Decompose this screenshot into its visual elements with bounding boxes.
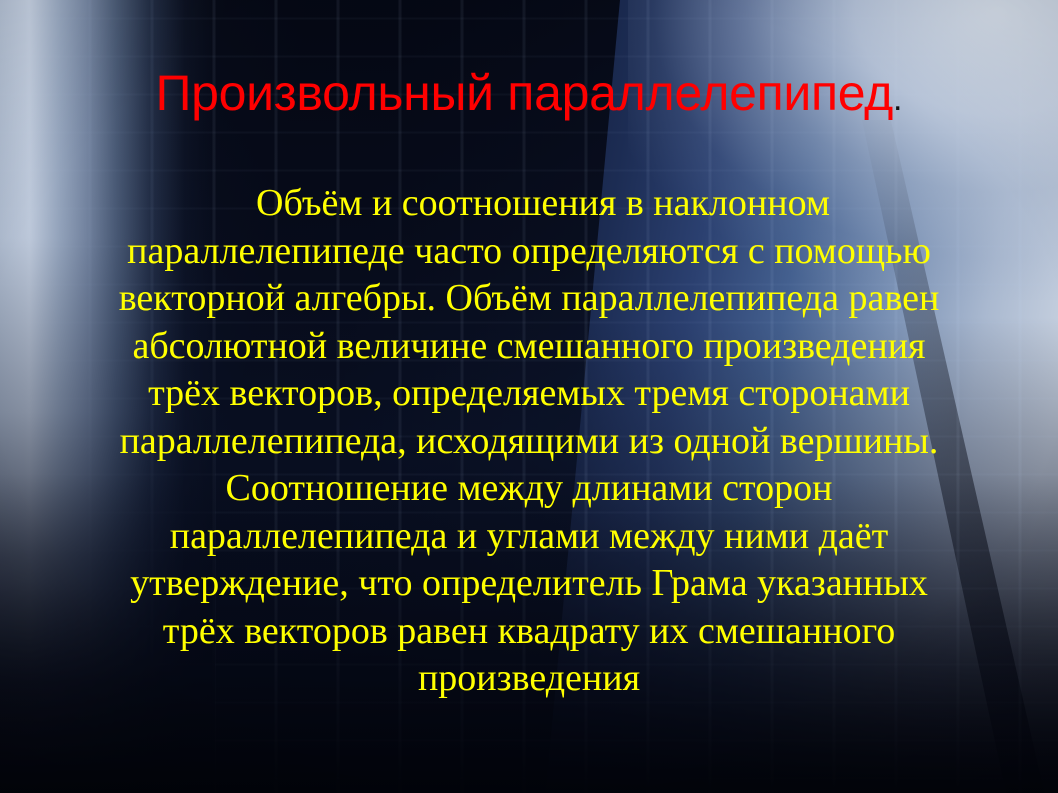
slide-title: Произвольный параллелепипед. [0,64,1058,122]
slide-title-period: . [893,80,902,118]
body-line: абсолютной величине смешанного произведе… [46,323,1012,371]
body-line: трёх векторов, определяемых тремя сторон… [46,370,1012,418]
slide-title-text: Произвольный параллелепипед [155,65,893,121]
body-line: параллелепипеда и углами между ними даёт [46,513,1012,561]
presentation-slide: Произвольный параллелепипед. Объём и соо… [0,0,1058,793]
body-line: Соотношение между длинами сторон [46,465,1012,513]
body-line: параллелепипеде часто определяются с пом… [46,228,1012,276]
body-line: Объём и соотношения в наклонном [46,180,1012,228]
body-line: векторной алгебры. Объём параллелепипеда… [46,275,1012,323]
body-line: утверждение, что определитель Грама указ… [46,560,1012,608]
slide-body: Объём и соотношения в наклонном параллел… [46,180,1012,703]
body-line: произведения [46,655,1012,703]
slide-content: Произвольный параллелепипед. Объём и соо… [0,0,1058,793]
body-line: параллелепипеда, исходящими из одной вер… [46,418,1012,466]
body-line: трёх векторов равен квадрату их смешанно… [46,608,1012,656]
